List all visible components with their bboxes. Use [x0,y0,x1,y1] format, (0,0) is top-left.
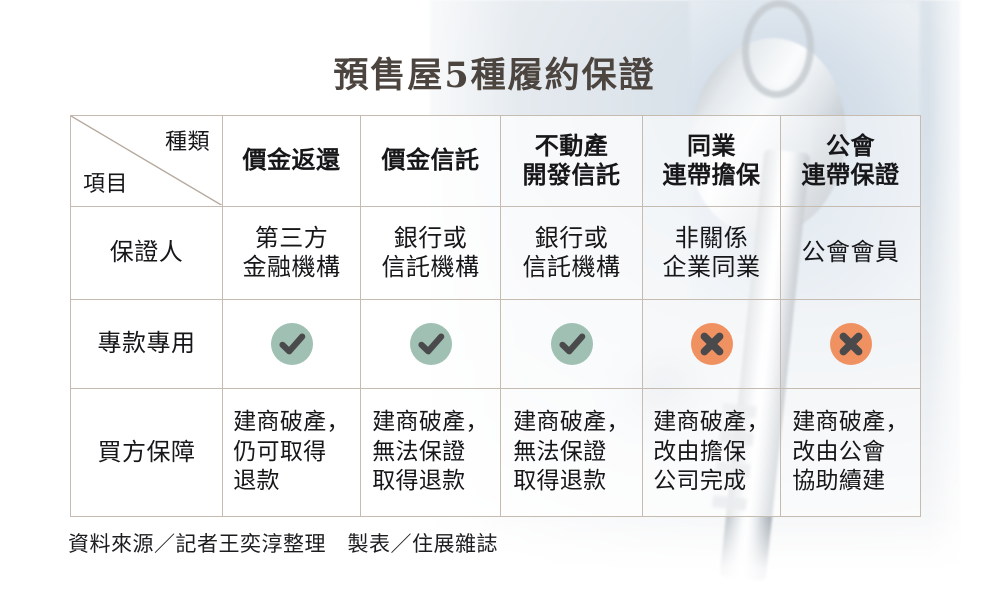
column-header-3-line1: 不動產 [501,132,642,161]
cross-icon [691,323,733,365]
cell-dedicated-funds-2 [361,300,501,389]
comparison-table-wrapper: 種類 項目 價金返還 價金信託 不動產 開發信託 [70,115,920,517]
cell-guarantor-2-line1: 銀行或 [361,224,500,253]
cell-dedicated-funds-5 [781,300,921,389]
column-header-3: 不動產 開發信託 [501,116,643,207]
cell-guarantor-1-line1: 第三方 [223,224,360,253]
cell-dedicated-funds-1 [223,300,361,389]
cell-guarantor-4-line2: 企業同業 [643,253,780,282]
page-title: 預售屋5種履約保證 [0,47,989,98]
table-row: 保證人 第三方 金融機構 銀行或 信託機構 銀行或 信託機構 非關係 [71,207,921,300]
cell-buyer-protection-5-line2: 改由公會 [792,438,909,468]
corner-item-label: 項目 [83,166,128,198]
column-header-5-line2: 連帶保證 [781,161,920,190]
cross-icon [830,323,872,365]
cell-buyer-protection-1-line1: 建商破產， [233,408,350,438]
cell-buyer-protection-1-line2: 仍可取得 [233,438,350,468]
corner-type-label: 種類 [165,124,210,156]
comparison-table: 種類 項目 價金返還 價金信託 不動產 開發信託 [70,115,921,517]
infographic-page: 預售屋5種履約保證 種類 項目 [0,0,989,604]
source-credit: 資料來源／記者王奕淳整理 製表／住展雜誌 [68,528,498,558]
table-row: 買方保障 建商破產， 仍可取得 退款 建商破產， 無法保證 取得退款 [71,389,921,517]
cell-buyer-protection-4-line3: 公司完成 [653,467,770,497]
row-label-guarantor: 保證人 [71,207,223,300]
cell-buyer-protection-1-line3: 退款 [233,467,350,497]
corner-cell: 種類 項目 [71,116,223,207]
table-header-row: 種類 項目 價金返還 價金信託 不動產 開發信託 [71,116,921,207]
cell-buyer-protection-3: 建商破產， 無法保證 取得退款 [501,389,643,517]
column-header-4-line1: 同業 [643,132,780,161]
column-header-5-line1: 公會 [781,132,920,161]
cell-guarantor-4: 非關係 企業同業 [643,207,781,300]
column-header-2-line1: 價金信託 [361,146,500,175]
cell-buyer-protection-3-line1: 建商破產， [513,408,630,438]
cell-guarantor-5-line1: 公會會員 [781,238,920,267]
cell-guarantor-2: 銀行或 信託機構 [361,207,501,300]
row-label-buyer-protection: 買方保障 [71,389,223,517]
cell-buyer-protection-5-line1: 建商破產， [792,408,909,438]
cell-buyer-protection-5-line3: 協助續建 [792,467,909,497]
cell-buyer-protection-4: 建商破產， 改由擔保 公司完成 [643,389,781,517]
cell-buyer-protection-2: 建商破產， 無法保證 取得退款 [361,389,501,517]
column-header-3-line2: 開發信託 [501,161,642,190]
column-header-4: 同業 連帶擔保 [643,116,781,207]
cell-dedicated-funds-3 [501,300,643,389]
cell-guarantor-4-line1: 非關係 [643,224,780,253]
column-header-5: 公會 連帶保證 [781,116,921,207]
cell-guarantor-3-line2: 信託機構 [501,253,642,282]
cell-buyer-protection-5: 建商破產， 改由公會 協助續建 [781,389,921,517]
cell-buyer-protection-4-line1: 建商破產， [653,408,770,438]
cell-guarantor-1: 第三方 金融機構 [223,207,361,300]
cell-guarantor-5: 公會會員 [781,207,921,300]
column-header-4-line2: 連帶擔保 [643,161,780,190]
check-icon [551,323,593,365]
cell-buyer-protection-1: 建商破產， 仍可取得 退款 [223,389,361,517]
cell-buyer-protection-2-line2: 無法保證 [372,438,489,468]
cell-buyer-protection-3-line2: 無法保證 [513,438,630,468]
row-label-dedicated-funds: 專款專用 [71,300,223,389]
table-row: 專款專用 [71,300,921,389]
cell-buyer-protection-3-line3: 取得退款 [513,467,630,497]
cell-guarantor-3-line1: 銀行或 [501,224,642,253]
cell-guarantor-1-line2: 金融機構 [223,253,360,282]
column-header-2: 價金信託 [361,116,501,207]
cell-buyer-protection-2-line3: 取得退款 [372,467,489,497]
check-icon [271,323,313,365]
column-header-1-line1: 價金返還 [223,146,360,175]
cell-guarantor-3: 銀行或 信託機構 [501,207,643,300]
cell-buyer-protection-4-line2: 改由擔保 [653,438,770,468]
cell-dedicated-funds-4 [643,300,781,389]
column-header-1: 價金返還 [223,116,361,207]
cell-buyer-protection-2-line1: 建商破產， [372,408,489,438]
check-icon [410,323,452,365]
cell-guarantor-2-line2: 信託機構 [361,253,500,282]
